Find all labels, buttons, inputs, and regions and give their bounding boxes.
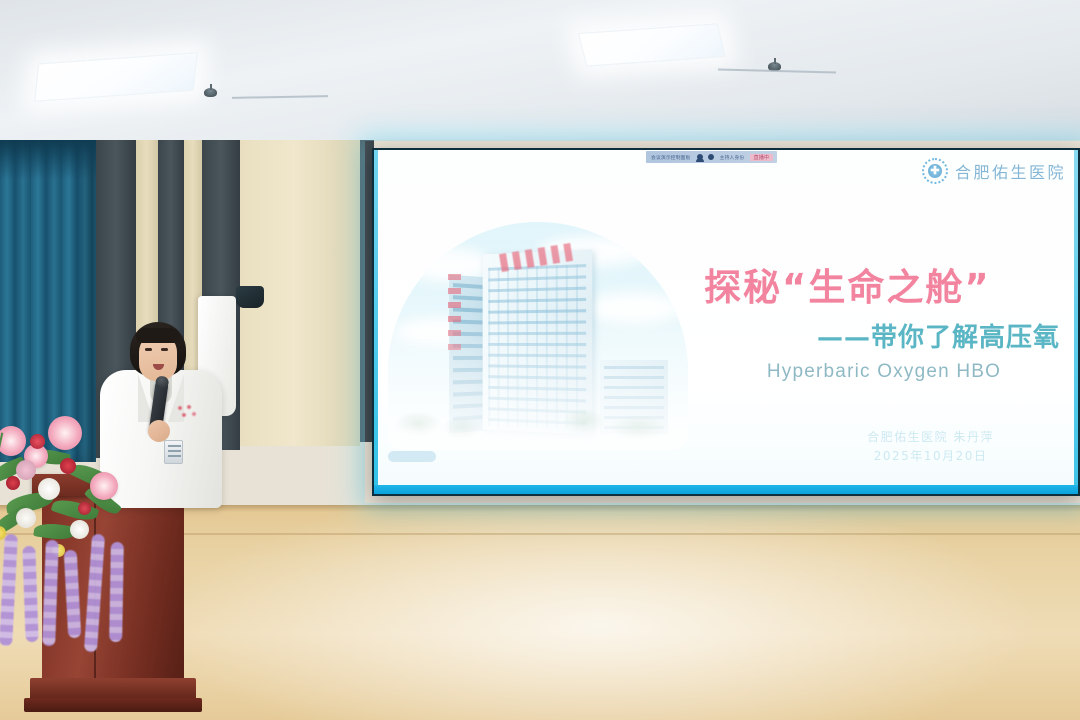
slide-ui-chip[interactable] <box>388 451 436 462</box>
slide-right-accent <box>1074 150 1078 494</box>
wisteria-strand-2 <box>22 546 38 642</box>
led-display-wall[interactable]: 会议演示控制面板 主持人身份 直播中 ✚ 合肥佑生医院 <box>372 148 1080 496</box>
white-rose-2 <box>16 508 36 528</box>
coat-emblem <box>176 404 198 422</box>
red-rose-3 <box>6 476 20 490</box>
white-rose-1 <box>38 478 60 500</box>
hospital-logo: ✚ 合肥佑生医院 <box>922 158 1066 184</box>
floral-arrangement <box>0 398 156 668</box>
toolbar-left-text: 会议演示控制面板 <box>651 154 691 161</box>
live-badge: 直播中 <box>750 154 774 161</box>
wisteria-strand-4 <box>64 550 82 639</box>
slide-title-english: Hyperbaric Oxygen HBO <box>704 361 1064 383</box>
slide-footer: 合肥佑生医院 朱丹萍 2025年10月20日 <box>867 428 994 466</box>
pink-lily-1 <box>0 426 26 456</box>
toolbar-account-text: 主持人身份 <box>719 154 744 161</box>
pink-rose-1 <box>16 460 36 480</box>
pink-lily-3 <box>90 472 118 500</box>
sprinkler-head-left <box>204 88 217 97</box>
pink-lily-2 <box>48 416 82 450</box>
slide-title-sub: ——带你了解高压氧 <box>704 317 1064 354</box>
hospital-name: 合肥佑生医院 <box>955 159 1066 183</box>
status-dot-icon <box>708 154 714 160</box>
presentation-slide[interactable]: 会议演示控制面板 主持人身份 直播中 ✚ 合肥佑生医院 <box>374 150 1078 494</box>
slide-title-block: 探秘“生命之舱” ——带你了解高压氧 Hyperbaric Oxygen HBO <box>704 268 1064 383</box>
wisteria-strand-6 <box>109 542 124 642</box>
ceiling <box>0 0 1080 152</box>
slide-footer-presenter: 合肥佑生医院 朱丹萍 <box>867 428 994 447</box>
hospital-cross-icon: ✚ <box>922 158 948 184</box>
hospital-building-photo <box>388 222 688 450</box>
id-badge <box>164 440 183 464</box>
red-rose-1 <box>30 434 45 449</box>
wisteria-strand-3 <box>42 540 59 646</box>
wall-mounted-speaker <box>236 286 264 308</box>
wisteria-strand-1 <box>0 534 18 647</box>
slide-left-accent <box>374 150 378 494</box>
slide-overlay-toolbar[interactable]: 会议演示控制面板 主持人身份 直播中 <box>646 151 777 163</box>
red-rose-4 <box>78 502 91 515</box>
user-icon[interactable] <box>697 154 703 160</box>
white-rose-3 <box>70 520 89 539</box>
slide-bottom-accent-band <box>374 485 1078 494</box>
wisteria-strand-5 <box>84 534 105 653</box>
slide-footer-date: 2025年10月20日 <box>867 447 994 466</box>
slide-title-main: 探秘“生命之舱” <box>704 268 1064 309</box>
screenshot-scene: 会议演示控制面板 主持人身份 直播中 ✚ 合肥佑生医院 <box>0 0 1080 720</box>
red-rose-2 <box>60 458 76 474</box>
